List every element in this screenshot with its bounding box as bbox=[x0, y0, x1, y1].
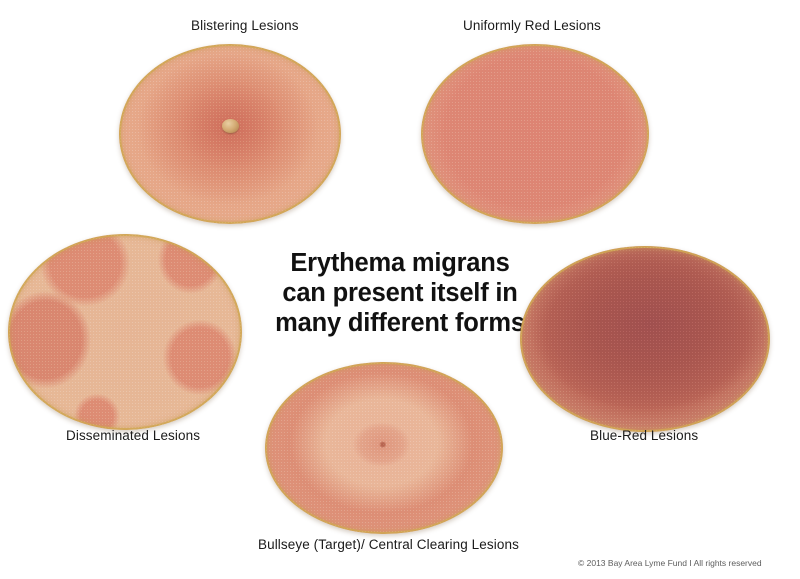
copyright-notice: © 2013 Bay Area Lyme Fund I All rights r… bbox=[578, 558, 762, 568]
label-blistering-lesions: Blistering Lesions bbox=[191, 18, 299, 33]
blister-vesicle-icon bbox=[222, 119, 239, 133]
label-bullseye-lesions: Bullseye (Target)/ Central Clearing Lesi… bbox=[258, 537, 519, 552]
page-title-line-2: can present itself in bbox=[270, 278, 530, 308]
erythema-migrans-poster: Blistering Lesions Uniformly Red Lesions… bbox=[0, 0, 800, 579]
page-title-line-3: many different forms bbox=[270, 308, 530, 338]
skin-texture-overlay bbox=[421, 44, 649, 224]
skin-texture-overlay bbox=[265, 362, 503, 534]
skin-texture-overlay bbox=[520, 246, 770, 432]
lesion-image-disseminated bbox=[8, 234, 242, 430]
skin-texture-overlay bbox=[8, 234, 242, 430]
page-title-line-1: Erythema migrans bbox=[270, 248, 530, 278]
skin-texture-overlay bbox=[119, 44, 341, 224]
page-title: Erythema migrans can present itself in m… bbox=[270, 248, 530, 338]
lesion-image-bluered bbox=[520, 246, 770, 432]
lesion-image-blistering bbox=[119, 44, 341, 224]
label-uniformly-red-lesions: Uniformly Red Lesions bbox=[463, 18, 601, 33]
label-blue-red-lesions: Blue-Red Lesions bbox=[590, 428, 698, 443]
lesion-image-uniform bbox=[421, 44, 649, 224]
lesion-image-bullseye bbox=[265, 362, 503, 534]
label-disseminated-lesions: Disseminated Lesions bbox=[66, 428, 200, 443]
